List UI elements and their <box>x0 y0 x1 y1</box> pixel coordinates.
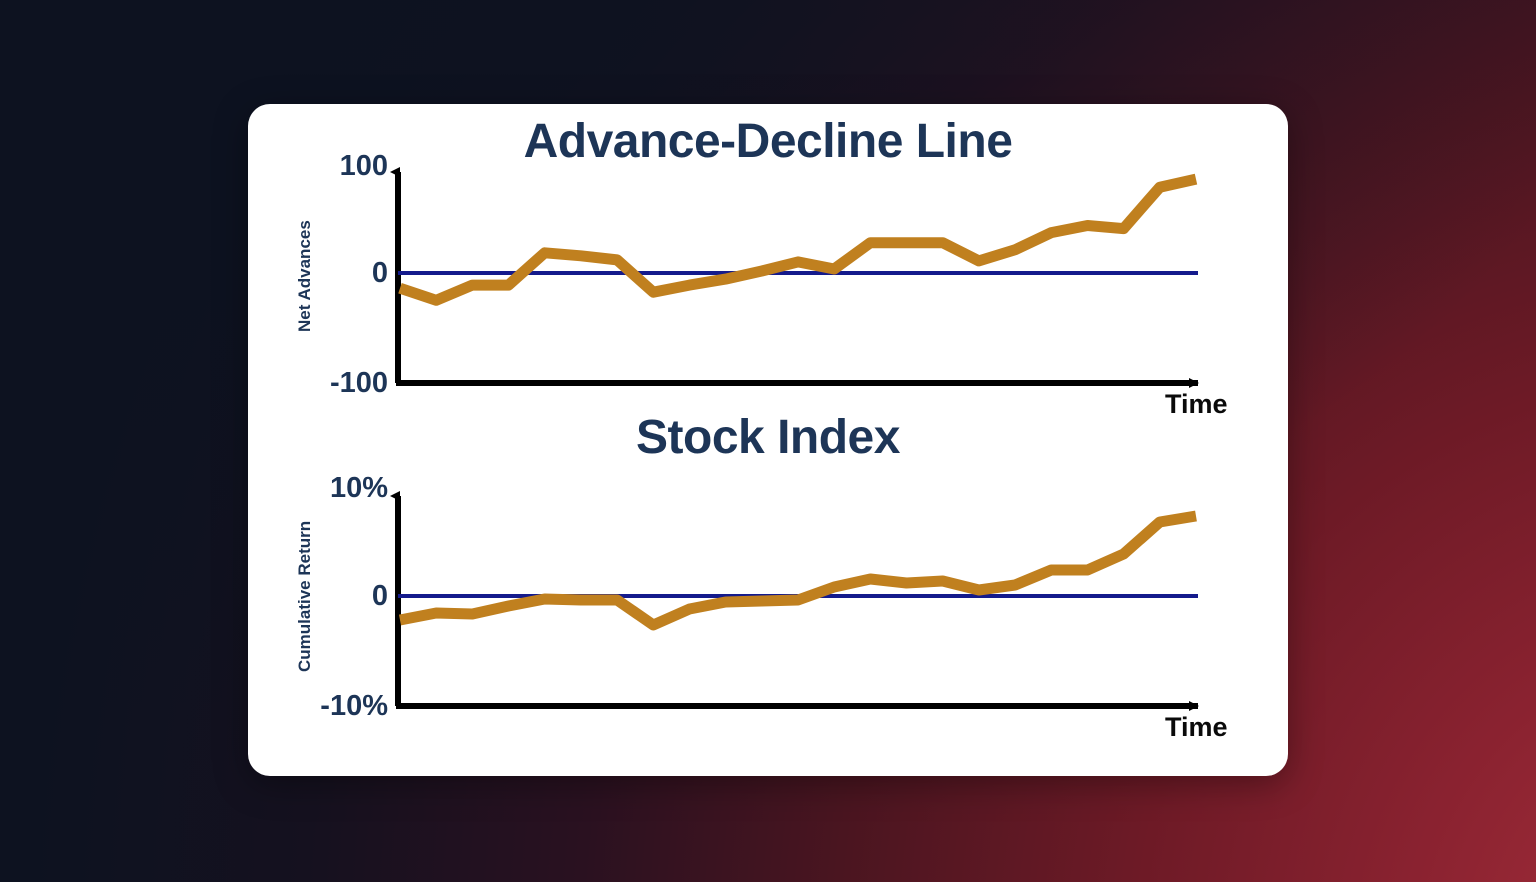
chart-advance-decline <box>396 172 1198 383</box>
series-net-advances <box>400 179 1196 300</box>
chart-title-advance-decline: Advance-Decline Line <box>248 118 1288 166</box>
y-axis-label-net-advances: Net Advances <box>296 220 313 332</box>
series-cumulative-return <box>400 516 1196 625</box>
y-tick-bottom-10pct: 10% <box>266 474 388 503</box>
screenshot-stage: Advance-Decline Line 100 0 -100 Net Adva… <box>0 0 1536 882</box>
y-tick-bottom-minus-10pct: -10% <box>248 692 388 721</box>
y-tick-top-minus-100: -100 <box>268 369 388 398</box>
chart-stock-index <box>396 496 1198 706</box>
x-axis-label-time-bottom: Time <box>1165 714 1228 741</box>
chart-title-stock-index: Stock Index <box>248 414 1288 462</box>
y-axis-label-cumulative-return: Cumulative Return <box>296 521 313 672</box>
y-tick-top-100: 100 <box>288 152 388 181</box>
chart-card: Advance-Decline Line 100 0 -100 Net Adva… <box>248 104 1288 776</box>
